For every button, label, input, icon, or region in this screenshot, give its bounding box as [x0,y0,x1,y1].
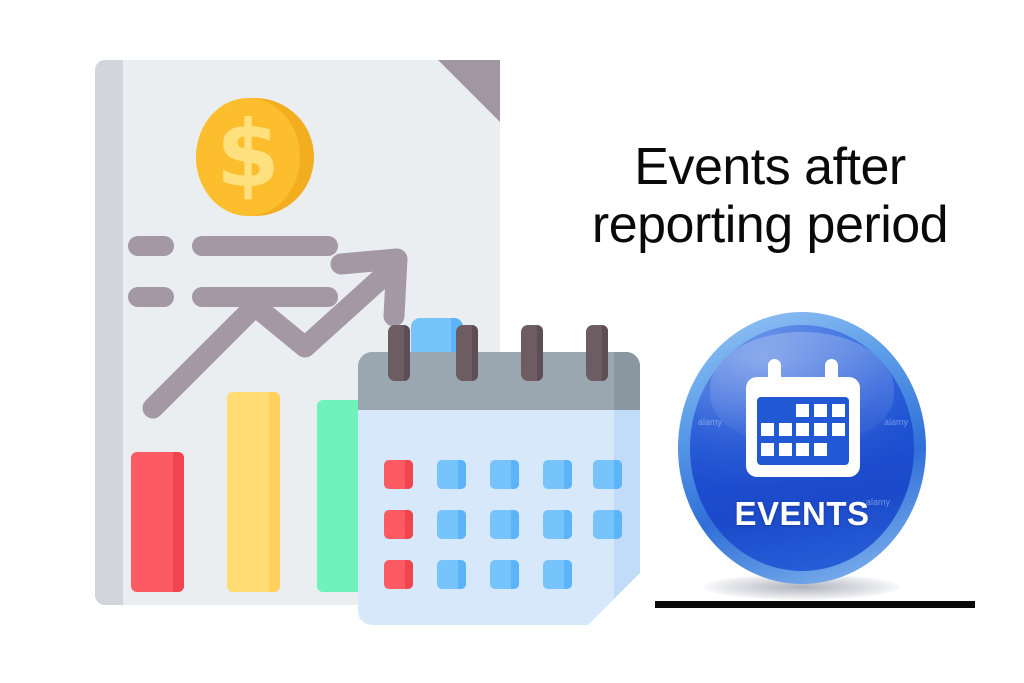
calendar-cell-r1c1 [384,460,413,489]
cell-shade [458,510,466,539]
ring-shade [472,325,478,381]
document-folded-corner-icon [438,60,500,122]
calendar-cell-r3c2 [437,560,466,589]
illustration-canvas: $ [0,0,1024,683]
calendar-cell-r1c5 [593,460,622,489]
dollar-coin-icon: $ [196,98,314,216]
calendar-header-shade [614,352,640,410]
cell-shade [458,460,466,489]
calendar-cell-r2c3 [490,510,519,539]
ring-shade [537,325,543,381]
badge-face: alamy alamy alamy [690,325,914,571]
events-badge: alamy alamy alamy [678,312,926,602]
ring-shade [404,325,410,381]
badge-baseline-bar [655,601,975,608]
calendar-ring-3 [521,325,543,381]
calendar-cell-r3c3 [490,560,519,589]
chart-bar-yellow [227,392,280,592]
calendar-ring-2 [456,325,478,381]
badge-watermark-left: alamy [698,417,722,427]
cell-shade [564,460,572,489]
chart-bar-red-shade [173,452,184,592]
calendar-ring-1 [388,325,410,381]
calendar-cell-r2c2 [437,510,466,539]
cell-shade [564,510,572,539]
chart-bar-red [131,452,184,592]
calendar-cell-r1c3 [490,460,519,489]
cell-shade [564,560,572,589]
ring-shade [602,325,608,381]
cell-shade [405,510,413,539]
page-title: Events after reporting period [560,138,980,254]
calendar-ring-4 [586,325,608,381]
calendar-icon [744,359,862,483]
cell-shade [511,560,519,589]
badge-watermark-right: alamy [884,417,908,427]
cell-shade [458,560,466,589]
badge-label: EVENTS [690,495,914,533]
calendar-cell-r1c4 [543,460,572,489]
chart-bar-yellow-shade [269,392,280,592]
flat-calendar-icon [358,330,640,625]
cell-shade [614,460,622,489]
cell-shade [614,510,622,539]
calendar-cell-r2c5 [593,510,622,539]
dollar-sign-glyph: $ [196,98,300,216]
cell-shade [511,510,519,539]
calendar-cell-r3c4 [543,560,572,589]
calendar-cell-r2c4 [543,510,572,539]
calendar-cell-r1c2 [437,460,466,489]
cell-shade [405,560,413,589]
document-spine [95,60,123,605]
calendar-cell-r3c1 [384,560,413,589]
cell-shade [511,460,519,489]
calendar-cell-r2c1 [384,510,413,539]
cell-shade [405,460,413,489]
